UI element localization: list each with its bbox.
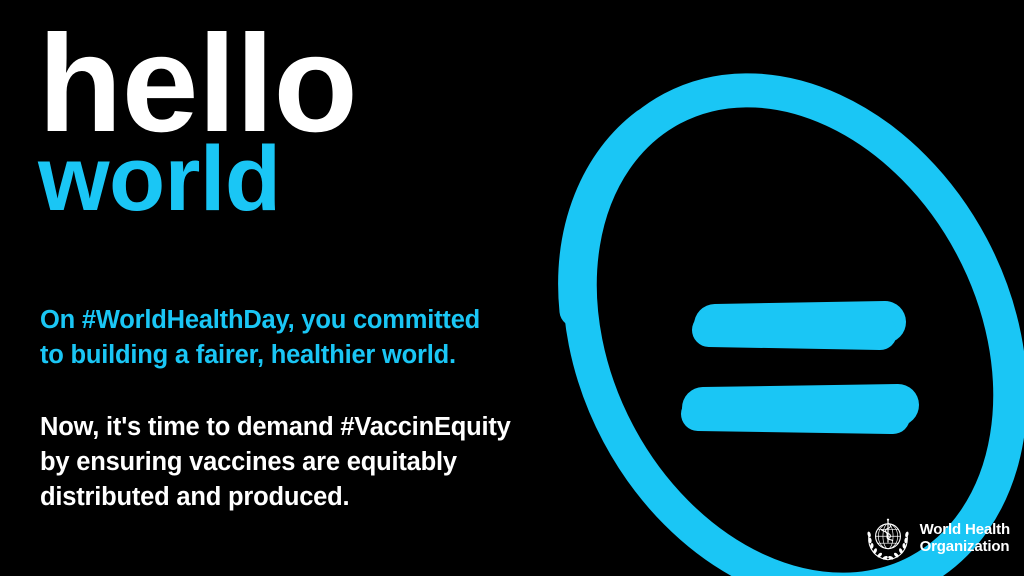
- equals-bar-top-overstroke: [709, 330, 880, 333]
- equals-bar-bottom-overstroke: [698, 414, 893, 417]
- poster-canvas: hello world On #WorldHealthDay, you comm…: [0, 0, 1024, 576]
- paragraph-demand: Now, it's time to demand #VaccinEquity b…: [40, 410, 511, 516]
- headline-line-hello: hello: [38, 24, 357, 145]
- paragraph-demand-line-1: Now, it's time to demand #VaccinEquity: [40, 413, 511, 441]
- who-wordmark-line-1: World Health: [920, 522, 1010, 539]
- equals-bar-top: [715, 322, 885, 325]
- text-column: hello world On #WorldHealthDay, you comm…: [38, 0, 598, 576]
- paragraph-demand-line-3: distributed and produced.: [40, 483, 349, 511]
- who-logo-lockup: World Health Organization: [865, 516, 1010, 562]
- who-wordmark: World Health Organization: [920, 522, 1010, 556]
- paragraph-demand-line-2: by ensuring vaccines are equitably: [40, 448, 457, 476]
- paragraph-commitment-line-2: to building a fairer, healthier world.: [40, 341, 456, 369]
- headline: hello world: [38, 24, 357, 220]
- equals-bar-bottom: [703, 405, 898, 408]
- who-wordmark-line-2: Organization: [920, 539, 1010, 556]
- who-emblem-icon: [865, 516, 911, 562]
- paragraph-commitment-line-1: On #WorldHealthDay, you committed: [40, 306, 480, 334]
- paragraph-commitment: On #WorldHealthDay, you committed to bui…: [40, 303, 480, 373]
